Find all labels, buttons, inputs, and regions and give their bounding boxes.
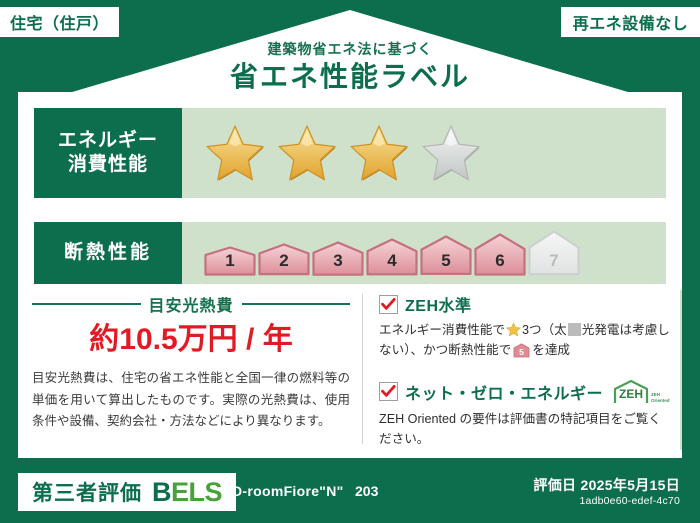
zeh-house-icon: ZEH	[612, 379, 650, 405]
insulation-rating-area: 1234567	[182, 222, 666, 284]
star-rating	[204, 123, 482, 183]
star-filled-icon	[276, 123, 338, 183]
energy-tag-line2: 消費性能	[68, 153, 148, 177]
zeh-standard-heading: ZEH水準	[379, 292, 670, 316]
house-level-number: 1	[204, 251, 256, 271]
house-level-empty: 7	[528, 230, 580, 276]
evaluation-date: 評価日 2025年5月15日	[533, 475, 680, 495]
redacted-character	[568, 323, 581, 336]
utility-cost-heading: 目安光熱費	[32, 292, 350, 316]
energy-performance-tag: エネルギー 消費性能	[34, 108, 182, 198]
zeh-standard-title: ZEH水準	[405, 292, 472, 316]
energy-performance-row: エネルギー 消費性能	[34, 108, 666, 198]
badge-renewable-energy: 再エネ設備なし	[560, 6, 700, 38]
house-level-number: 6	[474, 251, 526, 271]
net-zero-energy-body: ZEH Oriented の要件は評価書の特記項目をご覧ください。	[379, 409, 670, 450]
house-level-filled: 3	[312, 241, 364, 276]
energy-performance-label: 住宅（住戸） 再エネ設備なし 建築物省エネ法に基づく 省エネ性能ラベル ハウスコ…	[0, 0, 700, 523]
room-number: 203	[355, 483, 378, 499]
utility-cost-note: 目安光熱費は、住宅の省エネ性能と全国一律の燃料等の単価を用いて算出したものです。…	[32, 368, 350, 433]
house-level-number: 3	[312, 251, 364, 271]
utility-cost-value: 約10.5万円 / 年	[32, 323, 350, 356]
star-filled-icon	[348, 123, 410, 183]
zeh-logo-sub-line2: Oriented	[651, 398, 670, 403]
label-title-block: 建築物省エネ法に基づく 省エネ性能ラベル	[0, 42, 700, 94]
insulation-performance-tag: 断熱性能	[34, 222, 182, 284]
star-filled-icon	[204, 123, 266, 183]
svg-text:5: 5	[519, 347, 524, 357]
house-level-filled: 6	[474, 233, 526, 276]
building-name: D-roomFiore"N"	[232, 483, 344, 499]
house-level-filled: 2	[258, 243, 310, 276]
house-level-number: 5	[420, 251, 472, 271]
checkbox-checked-icon[interactable]	[379, 382, 398, 401]
house-level-scale: 1234567	[204, 230, 580, 276]
zeh-standard-body: エネルギー消費性能で3つ（太光発電は考慮しない）、かつ断熱性能で5を達成	[379, 320, 670, 365]
energy-rating-area	[182, 108, 666, 198]
zeh-body-text-1: エネルギー消費性能で	[379, 323, 505, 337]
house-level-filled: 4	[366, 238, 418, 276]
utility-cost-label: 目安光熱費	[149, 292, 234, 316]
bels-logo-b: B	[152, 477, 171, 507]
zeh-oriented-logo: ZEH ZEH Oriented	[612, 379, 670, 405]
house-level-filled: 5	[420, 235, 472, 275]
insulation-tag-label: 断熱性能	[64, 241, 152, 265]
zeh-body-text-2: 3つ（太	[522, 323, 567, 337]
svg-text:ZEH: ZEH	[619, 387, 643, 401]
checkbox-checked-icon[interactable]	[379, 295, 398, 314]
energy-tag-line1: エネルギー	[58, 129, 158, 153]
title-subtitle: 建築物省エネ法に基づく	[0, 42, 700, 57]
house-level-filled: 1	[204, 246, 256, 276]
bels-logo-plate: 第三者評価 BELS	[18, 473, 236, 511]
evaluation-id: 1adb0e60-edef-4c70	[579, 495, 680, 507]
insulation-performance-row: 断熱性能 1234567	[34, 222, 666, 284]
house-level-number: 4	[366, 251, 418, 271]
rule-left	[32, 303, 141, 305]
inline-house-level-badge: 5	[513, 343, 530, 364]
third-party-eval-label: 第三者評価	[32, 477, 142, 507]
net-zero-energy-heading: ネット・ゼロ・エネルギー ZEH ZEH Oriented	[379, 379, 670, 405]
lower-content: 目安光熱費 約10.5万円 / 年 目安光熱費は、住宅の省エネ性能と全国一律の燃…	[18, 290, 682, 450]
inline-star-icon	[506, 322, 521, 337]
house-level-number: 2	[258, 251, 310, 271]
star-empty-icon	[420, 123, 482, 183]
badge-building-type: 住宅（住戸）	[0, 6, 120, 38]
utility-cost-column: 目安光熱費 約10.5万円 / 年 目安光熱費は、住宅の省エネ性能と全国一律の燃…	[18, 290, 362, 450]
label-footer: 第三者評価 BELS D-roomFiore"N" 203 評価日 2025年5…	[0, 463, 700, 523]
rule-right	[242, 303, 351, 305]
bels-logo: BELS	[152, 477, 222, 508]
page-title: 省エネ性能ラベル	[0, 59, 700, 94]
net-zero-energy-title: ネット・ゼロ・エネルギー	[405, 380, 603, 404]
house-level-number: 7	[528, 251, 580, 271]
zeh-body-text-4: を達成	[532, 343, 570, 357]
bels-logo-els: ELS	[171, 477, 222, 507]
zeh-standard-item: ZEH水準 エネルギー消費性能で3つ（太光発電は考慮しない）、かつ断熱性能で5を…	[379, 292, 670, 365]
zeh-column: ZEH水準 エネルギー消費性能で3つ（太光発電は考慮しない）、かつ断熱性能で5を…	[363, 290, 682, 450]
zeh-logo-subtext: ZEH Oriented	[651, 392, 670, 404]
net-zero-energy-item: ネット・ゼロ・エネルギー ZEH ZEH Oriented ZEH Orient…	[379, 379, 670, 450]
